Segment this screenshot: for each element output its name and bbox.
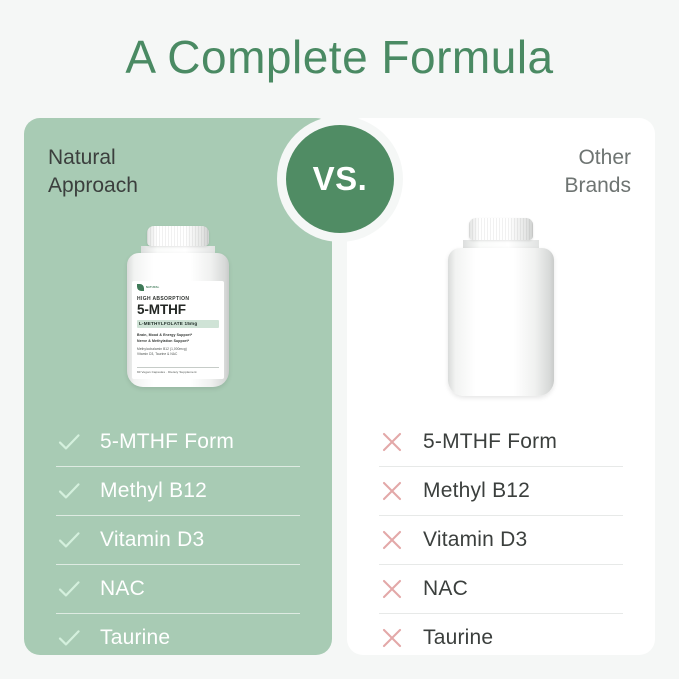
cross-icon — [379, 576, 405, 602]
list-item: Methyl B12 — [379, 466, 623, 515]
list-item-label: 5-MTHF Form — [423, 430, 557, 454]
list-item: Taurine — [56, 613, 300, 662]
page-title: A Complete Formula — [0, 30, 679, 84]
check-icon — [56, 478, 82, 504]
label-strength: L-METHYLFOLATE 15mg — [137, 320, 219, 328]
cross-icon — [379, 478, 405, 504]
leaf-icon — [137, 284, 144, 291]
list-item: NAC — [56, 564, 300, 613]
cross-icon — [379, 527, 405, 553]
list-item-label: 5-MTHF Form — [100, 430, 234, 454]
label-product-name: 5-MTHF — [137, 303, 219, 317]
list-item: Taurine — [379, 613, 623, 662]
cross-icon — [379, 625, 405, 651]
list-item: Vitamin D3 — [56, 515, 300, 564]
list-item-label: NAC — [423, 577, 468, 601]
natural-approach-feature-list: 5-MTHF Form Methyl B12 Vitamin D3 NAC Ta… — [56, 418, 300, 662]
check-icon — [56, 576, 82, 602]
list-item-label: NAC — [100, 577, 145, 601]
list-item-label: Methyl B12 — [423, 479, 530, 503]
list-item-label: Vitamin D3 — [100, 528, 204, 552]
bottle-label: NATURAL HIGH ABSORPTION 5-MTHF L-METHYLF… — [132, 281, 224, 379]
cross-icon — [379, 429, 405, 455]
natural-approach-bottle: NATURAL HIGH ABSORPTION 5-MTHF L-METHYLF… — [127, 226, 229, 387]
right-panel-title: Other Brands — [564, 144, 631, 199]
left-panel-title: Natural Approach — [48, 144, 138, 199]
label-footer: 90 Vegan Capsules · Dietary Supplement — [137, 367, 219, 374]
bottle-cap — [147, 226, 209, 246]
list-item-label: Taurine — [423, 626, 493, 650]
list-item: Methyl B12 — [56, 466, 300, 515]
list-item: 5-MTHF Form — [56, 418, 300, 466]
vs-badge: VS. — [286, 125, 394, 233]
bottle-cap — [469, 218, 533, 240]
list-item-label: Taurine — [100, 626, 170, 650]
list-item: NAC — [379, 564, 623, 613]
check-icon — [56, 527, 82, 553]
bottle-body: NATURAL HIGH ABSORPTION 5-MTHF L-METHYLF… — [127, 253, 229, 387]
list-item: 5-MTHF Form — [379, 418, 623, 466]
bottle-body — [448, 248, 554, 396]
list-item-label: Methyl B12 — [100, 479, 207, 503]
label-claims: Brain, Mood & Energy Support* Nerve & Me… — [137, 332, 219, 344]
list-item-label: Vitamin D3 — [423, 528, 527, 552]
label-ingredient: Vitamin D3, Taurine & NAC — [137, 352, 219, 358]
check-icon — [56, 625, 82, 651]
other-brand-bottle — [448, 218, 554, 396]
bottle-neck — [463, 240, 539, 248]
bottle-neck — [141, 246, 215, 253]
list-item: Vitamin D3 — [379, 515, 623, 564]
brand-logo: NATURAL — [137, 284, 219, 291]
vs-badge-ring: VS. — [277, 116, 403, 242]
label-ingredients: Methylcobalamin B12 (1,000mcg) Vitamin D… — [137, 347, 219, 358]
other-brands-feature-list: 5-MTHF Form Methyl B12 Vitamin D3 NAC Ta… — [379, 418, 623, 662]
label-claim: Nerve & Methylation Support* — [137, 338, 219, 344]
brand-name-line1: NATURAL — [146, 286, 159, 289]
check-icon — [56, 429, 82, 455]
